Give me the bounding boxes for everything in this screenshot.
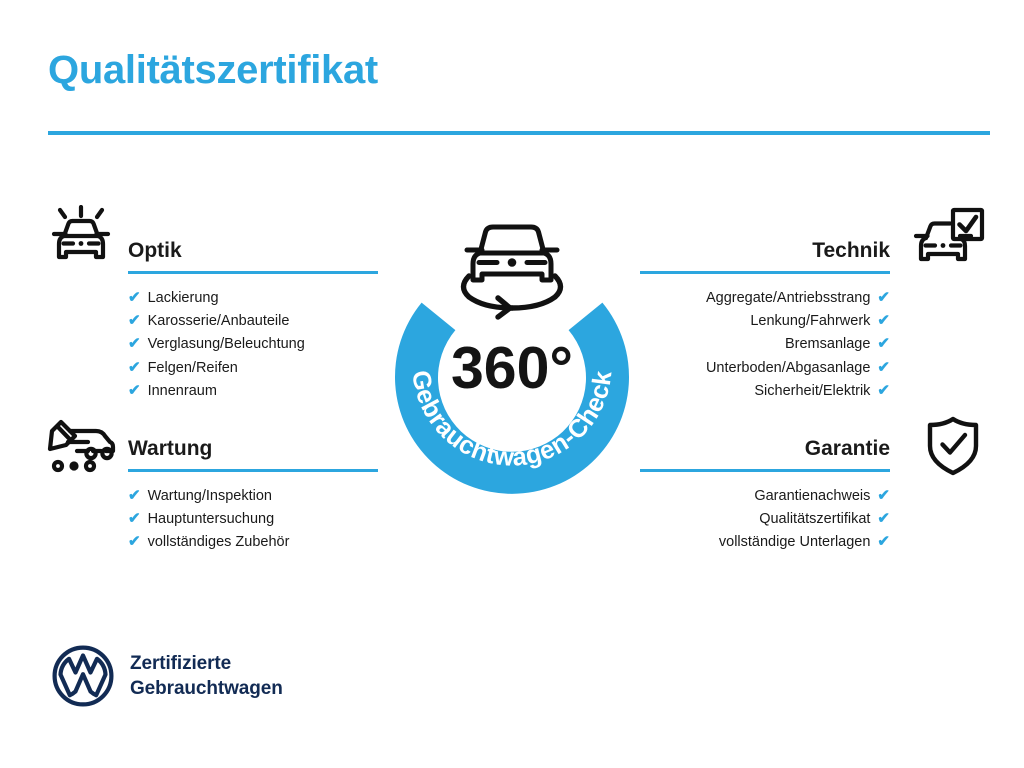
- checklist-item-label: Innenraum: [148, 380, 217, 403]
- category-title: Optik: [128, 236, 378, 266]
- car-rotate-360-icon: [464, 227, 561, 317]
- checklist-item-label: Lenkung/Fahrwerk: [750, 310, 870, 333]
- check-icon: ✔: [877, 360, 890, 375]
- certificate-page: Qualitätszertifikat: [0, 0, 1024, 768]
- check-icon: ✔: [128, 534, 141, 549]
- check-icon: ✔: [128, 383, 141, 398]
- checklist-optik: ✔Lackierung✔Karosserie/Anbauteile✔Vergla…: [128, 287, 378, 403]
- category-title: Garantie: [640, 434, 890, 464]
- checklist-item-label: Felgen/Reifen: [148, 357, 238, 380]
- footer-logo: Zertifizierte Gebrauchtwagen: [52, 645, 283, 707]
- checklist-item: Bremsanlage✔: [640, 333, 890, 356]
- checklist-item: ✔Lackierung: [128, 287, 378, 310]
- car-shine-icon: [44, 205, 118, 267]
- checklist-item: ✔Hauptuntersuchung: [128, 508, 378, 531]
- check-icon: ✔: [877, 534, 890, 549]
- checklist-item: ✔vollständiges Zubehör: [128, 531, 378, 554]
- checklist-garantie: Garantienachweis✔Qualitätszertifikat✔vol…: [640, 485, 890, 555]
- check-icon: ✔: [877, 313, 890, 328]
- check-icon: ✔: [128, 488, 141, 503]
- check-icon: ✔: [877, 488, 890, 503]
- check-icon: ✔: [877, 383, 890, 398]
- car-checkbox-icon: [912, 205, 986, 267]
- pencil-car-icon: [44, 415, 118, 477]
- category-title: Technik: [640, 236, 890, 266]
- checklist-item: Aggregate/Antriebsstrang✔: [640, 287, 890, 310]
- badge-center-label: 360°: [451, 335, 573, 401]
- category-title: Wartung: [128, 434, 378, 464]
- checklist-item-label: Bremsanlage: [785, 333, 870, 356]
- category-divider: [128, 469, 378, 472]
- category-divider: [640, 271, 890, 274]
- checklist-item-label: Wartung/Inspektion: [148, 485, 272, 508]
- checklist-item: ✔Wartung/Inspektion: [128, 485, 378, 508]
- volkswagen-logo: [52, 645, 114, 707]
- checklist-item: ✔Karosserie/Anbauteile: [128, 310, 378, 333]
- category-garantie: GarantieGarantienachweis✔Qualitätszertif…: [640, 434, 890, 555]
- checklist-item-label: Lackierung: [148, 287, 219, 310]
- category-divider: [128, 271, 378, 274]
- header-divider: [48, 131, 990, 135]
- category-wartung: Wartung✔Wartung/Inspektion✔Hauptuntersuc…: [128, 434, 378, 555]
- check-icon: ✔: [128, 290, 141, 305]
- 360-gebrauchtwagen-check-badge: Gebrauchtwagen-Check 360°: [372, 196, 652, 496]
- check-icon: ✔: [877, 336, 890, 351]
- checklist-item-label: Aggregate/Antriebsstrang: [706, 287, 870, 310]
- shield-check-icon: [916, 415, 990, 477]
- check-icon: ✔: [128, 336, 141, 351]
- category-optik: Optik✔Lackierung✔Karosserie/Anbauteile✔V…: [128, 236, 378, 403]
- footer-logo-line1: Zertifizierte: [130, 651, 283, 676]
- category-technik: TechnikAggregate/Antriebsstrang✔Lenkung/…: [640, 236, 890, 403]
- category-divider: [640, 469, 890, 472]
- checklist-item-label: Verglasung/Beleuchtung: [148, 333, 305, 356]
- check-icon: ✔: [128, 511, 141, 526]
- checklist-item: Lenkung/Fahrwerk✔: [640, 310, 890, 333]
- checklist-item: ✔Innenraum: [128, 380, 378, 403]
- checklist-item: ✔Verglasung/Beleuchtung: [128, 333, 378, 356]
- check-icon: ✔: [128, 313, 141, 328]
- checklist-item: Unterboden/Abgasanlage✔: [640, 357, 890, 380]
- check-icon: ✔: [877, 290, 890, 305]
- category-header-wartung: Wartung: [128, 434, 378, 472]
- checklist-item: Qualitätszertifikat✔: [640, 508, 890, 531]
- check-icon: ✔: [877, 511, 890, 526]
- checklist-item-label: Hauptuntersuchung: [148, 508, 275, 531]
- checklist-item-label: Garantienachweis: [754, 485, 870, 508]
- checklist-item: Garantienachweis✔: [640, 485, 890, 508]
- checklist-item-label: Sicherheit/Elektrik: [754, 380, 870, 403]
- check-icon: ✔: [128, 360, 141, 375]
- checklist-item: Sicherheit/Elektrik✔: [640, 380, 890, 403]
- checklist-wartung: ✔Wartung/Inspektion✔Hauptuntersuchung✔vo…: [128, 485, 378, 555]
- checklist-item: vollständige Unterlagen✔: [640, 531, 890, 554]
- category-header-garantie: Garantie: [640, 434, 890, 472]
- checklist-item-label: vollständiges Zubehör: [148, 531, 290, 554]
- checklist-item: ✔Felgen/Reifen: [128, 357, 378, 380]
- checklist-item-label: Unterboden/Abgasanlage: [706, 357, 870, 380]
- checklist-item-label: Karosserie/Anbauteile: [148, 310, 290, 333]
- checklist-technik: Aggregate/Antriebsstrang✔Lenkung/Fahrwer…: [640, 287, 890, 403]
- footer-logo-text: Zertifizierte Gebrauchtwagen: [130, 651, 283, 701]
- page-title: Qualitätszertifikat: [48, 48, 378, 92]
- footer-logo-line2: Gebrauchtwagen: [130, 676, 283, 701]
- category-header-technik: Technik: [640, 236, 890, 274]
- checklist-item-label: Qualitätszertifikat: [759, 508, 870, 531]
- category-header-optik: Optik: [128, 236, 378, 274]
- checklist-item-label: vollständige Unterlagen: [719, 531, 871, 554]
